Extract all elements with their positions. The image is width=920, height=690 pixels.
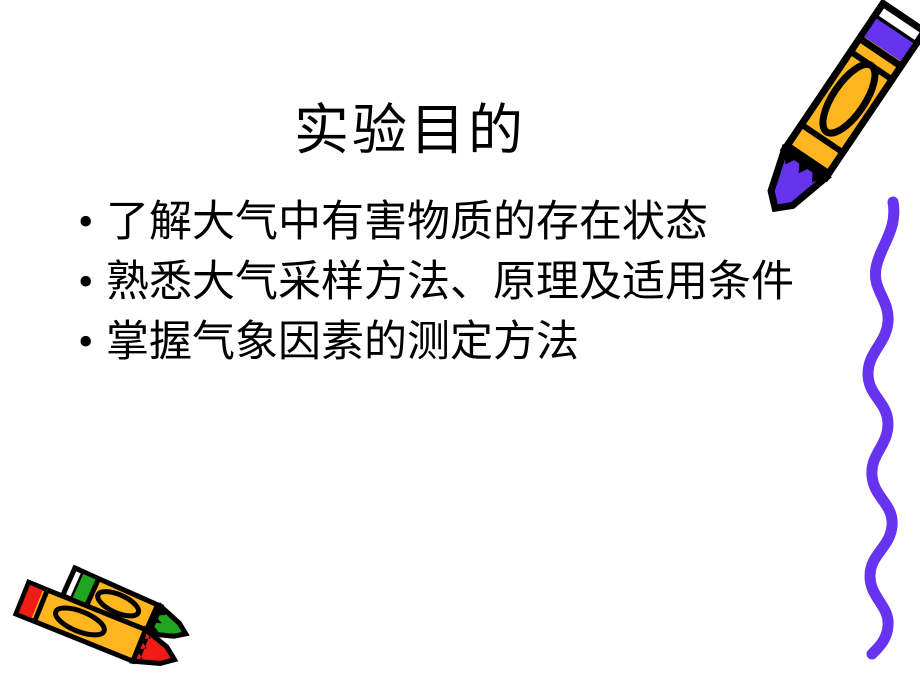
list-item: • 熟悉大气采样方法、原理及适用条件: [74, 256, 814, 316]
bullet-marker-icon: •: [74, 316, 106, 368]
crayon-pair-icon-bottom-left: [2, 540, 202, 680]
bullet-marker-icon: •: [74, 196, 106, 248]
list-item: • 掌握气象因素的测定方法: [74, 316, 814, 376]
bullet-marker-icon: •: [74, 256, 106, 308]
list-item: • 了解大气中有害物质的存在状态: [74, 196, 814, 256]
page-title: 实验目的: [0, 96, 820, 166]
list-item-label: 熟悉大气采样方法、原理及适用条件: [106, 256, 794, 310]
list-item-label: 掌握气象因素的测定方法: [106, 316, 579, 370]
list-item-label: 了解大气中有害物质的存在状态: [106, 196, 708, 250]
squiggle-line-icon: [846, 196, 920, 666]
slide-canvas: 实验目的 • 了解大气中有害物质的存在状态 • 熟悉大气采样方法、原理及适用条件…: [0, 0, 920, 690]
bullet-list: • 了解大气中有害物质的存在状态 • 熟悉大气采样方法、原理及适用条件 • 掌握…: [74, 196, 814, 376]
